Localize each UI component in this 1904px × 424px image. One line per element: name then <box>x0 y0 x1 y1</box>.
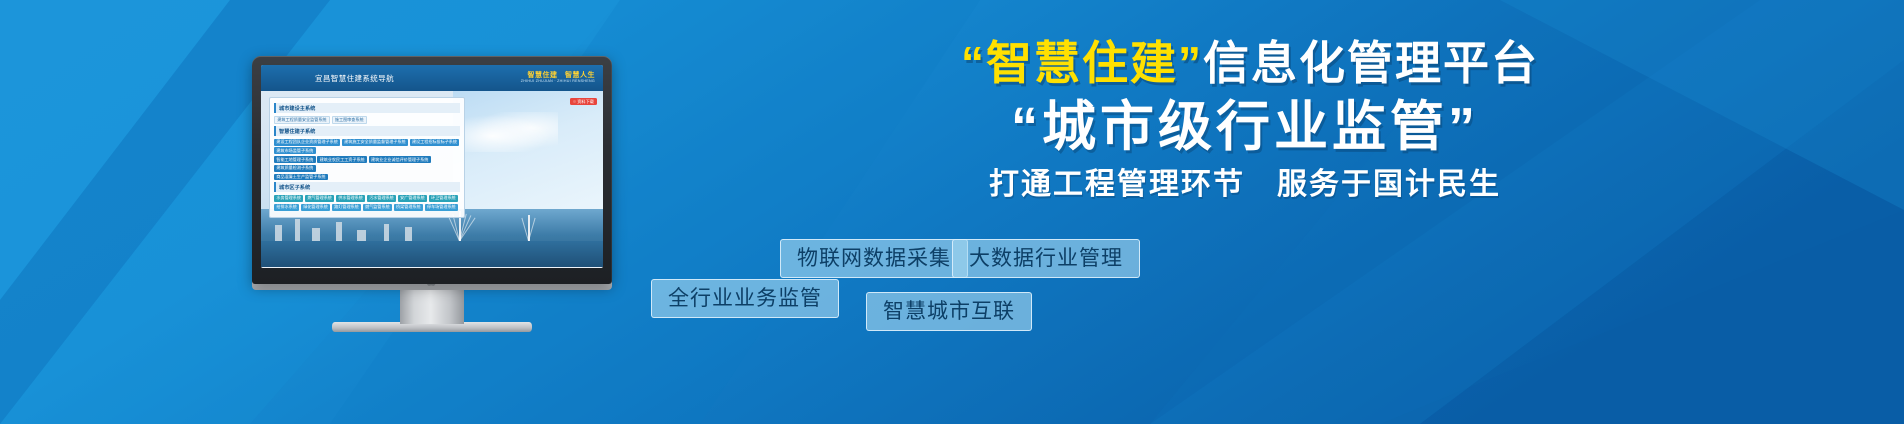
quote-close: ” <box>1178 37 1203 89</box>
nav-chip[interactable]: 建筑业企业诚信评价管理子系统 <box>369 156 431 163</box>
monitor-stand-neck <box>400 290 464 324</box>
chip-row: 智能工地管理子系统 建筑业农民工工资子系统 建筑业企业诚信评价管理子系统 建筑质… <box>274 156 460 171</box>
nav-chip[interactable]: 燃气管理系统 <box>305 195 334 202</box>
chip-row: 商品混凝土生产监管子系统 <box>274 174 460 181</box>
nav-chip[interactable]: 建筑市场监管子系统 <box>274 147 316 154</box>
nav-chip[interactable]: 建设工程团队企业资质管理子系统 <box>274 139 340 146</box>
nav-chip[interactable]: 水务管理系统 <box>274 195 303 202</box>
headline-subtitle: 打通工程管理环节 服务于国计民生 <box>640 170 1820 200</box>
quote-open: “ <box>961 37 986 89</box>
promo-banner: 宜昌智慧住建系统导航 智慧住建 智慧人生 ZHIHUI ZHUJIAN · ZH… <box>0 0 1904 424</box>
city-photo <box>261 209 603 267</box>
nav-chip[interactable]: 绿化管理系统 <box>301 204 330 211</box>
app-logo-en: ZHIHUI ZHUJIAN · ZHIHUI RENSHENG <box>521 80 595 84</box>
imac-mockup: 宜昌智慧住建系统导航 智慧住建 智慧人生 ZHIHUI ZHUJIAN · ZH… <box>252 56 612 306</box>
nav-chip[interactable]: 安广管理系统 <box>398 195 427 202</box>
nav-chip[interactable]: 智能工地管理子系统 <box>274 156 316 163</box>
nav-chip[interactable]: 建筑工程质量安全监管系统 <box>274 116 330 125</box>
feature-pill-iot[interactable]: 物联网数据采集 <box>780 239 968 278</box>
nav-chip[interactable]: 建筑施工安全质量监督管理子系统 <box>342 139 408 146</box>
section-0: 城市建设主系统 建筑工程质量安全监管系统 施工图审查系统 <box>274 103 460 124</box>
nav-chip[interactable]: 建筑质量检测子系统 <box>274 165 316 172</box>
headline-block: “智慧住建”信息化管理平台 “城市级行业监管” 打通工程管理环节 服务于国计民生 <box>640 40 1820 200</box>
app-body: 资料下载 城市建设主系统 建筑工程质量安全监管系统 施工图审查系统 智慧住建子系… <box>261 91 603 267</box>
section-1: 智慧住建子系统 建设工程团队企业资质管理子系统 建筑施工安全质量监督管理子系统 … <box>274 126 460 180</box>
nav-chip[interactable]: 商品混凝土生产监管子系统 <box>274 174 328 181</box>
nav-chip[interactable]: 环卫管理系统 <box>429 195 458 202</box>
download-button[interactable]: 资料下载 <box>570 98 597 105</box>
section-title: 城市建设主系统 <box>274 103 460 113</box>
chip-row: 水务管理系统 燃气管理系统 供水管理系统 污水管理系统 安广管理系统 环卫管理系… <box>274 195 460 202</box>
nav-chip[interactable]: 给排水系统 <box>274 204 299 211</box>
headline-line-2: “城市级行业监管” <box>640 100 1820 154</box>
nav-chip[interactable]: 路灯管理系统 <box>332 204 361 211</box>
app-header: 宜昌智慧住建系统导航 智慧住建 智慧人生 ZHIHUI ZHUJIAN · ZH… <box>261 65 603 91</box>
app-title: 宜昌智慧住建系统导航 <box>267 73 394 84</box>
monitor-bezel: 宜昌智慧住建系统导航 智慧住建 智慧人生 ZHIHUI ZHUJIAN · ZH… <box>252 56 612 284</box>
section-2: 城市区子系统 水务管理系统 燃气管理系统 供水管理系统 污水管理系统 安广管理系… <box>274 182 460 210</box>
feature-pill-supervision[interactable]: 全行业业务监管 <box>651 279 839 318</box>
section-title: 智慧住建子系统 <box>274 126 460 136</box>
nav-chip[interactable]: 建筑业农民工工资子系统 <box>317 156 367 163</box>
nav-chip[interactable]: 燃气监管系统 <box>363 204 392 211</box>
sky-photo <box>453 91 603 209</box>
nav-chip[interactable]: 建设工程招标投标子系统 <box>410 139 460 146</box>
download-label: 资料下载 <box>577 100 594 104</box>
app-logo: 智慧住建 智慧人生 ZHIHUI ZHUJIAN · ZHIHUI RENSHE… <box>521 72 597 83</box>
chip-row: 建筑工程质量安全监管系统 施工图审查系统 <box>274 116 460 125</box>
headline-highlight: 智慧住建 <box>986 37 1178 89</box>
headline-rest: 信息化管理平台 <box>1203 37 1539 89</box>
headline-line-1: “智慧住建”信息化管理平台 <box>640 40 1820 86</box>
chip-row: 给排水系统 绿化管理系统 路灯管理系统 燃气监管系统 桥梁管理系统 停车场管理系… <box>274 204 460 211</box>
feature-pill-bigdata[interactable]: 大数据行业管理 <box>952 239 1140 278</box>
nav-chip[interactable]: 桥梁管理系统 <box>394 204 423 211</box>
monitor-screen: 宜昌智慧住建系统导航 智慧住建 智慧人生 ZHIHUI ZHUJIAN · ZH… <box>261 65 603 268</box>
nav-chip[interactable]: 停车场管理系统 <box>425 204 458 211</box>
feature-pill-smartcity[interactable]: 智慧城市互联 <box>866 292 1032 331</box>
nav-panel: 城市建设主系统 建筑工程质量安全监管系统 施工图审查系统 智慧住建子系统 建设工… <box>269 97 465 218</box>
download-icon <box>573 100 576 103</box>
nav-chip[interactable]: 污水管理系统 <box>367 195 396 202</box>
nav-chip[interactable]: 供水管理系统 <box>336 195 365 202</box>
section-title: 城市区子系统 <box>274 182 460 192</box>
chip-row: 建设工程团队企业资质管理子系统 建筑施工安全质量监督管理子系统 建设工程招标投标… <box>274 139 460 154</box>
nav-chip[interactable]: 施工图审查系统 <box>332 116 367 125</box>
